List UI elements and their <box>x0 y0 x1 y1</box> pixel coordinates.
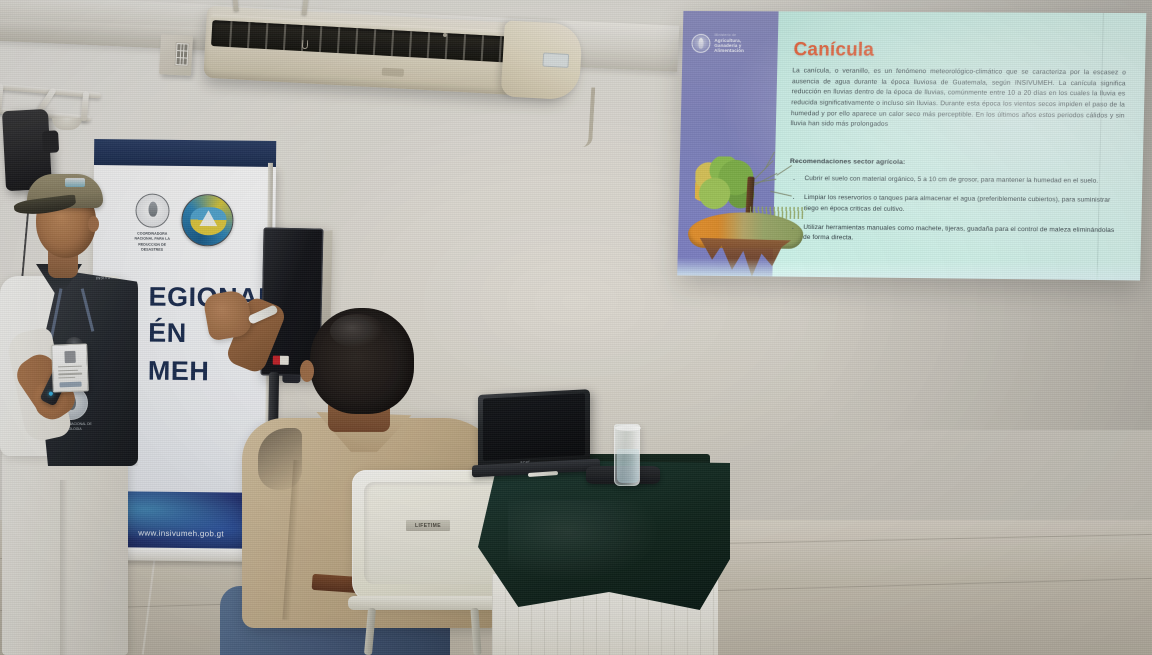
cloth-sheen <box>508 500 658 580</box>
presenter-ear <box>88 216 99 232</box>
projected-presentation-slide: Ministerio de Agricultura, Ganadería y A… <box>677 11 1146 281</box>
seated-ear <box>300 360 314 382</box>
laptop-lid: acer <box>478 389 590 469</box>
wall-nail <box>443 33 447 37</box>
ac-label-sticker <box>542 53 569 68</box>
vest-shoulder-text: INSIVUMEH <box>96 272 142 280</box>
wall-switch-keys[interactable] <box>174 42 189 67</box>
presenter-id-badge <box>51 343 89 392</box>
seated-hair-highlight <box>330 314 384 348</box>
slide-title: Canícula <box>793 39 874 61</box>
glass-rim <box>615 425 641 431</box>
ministry-logo-line2: Agricultura, Ganadería y Alimentación <box>714 38 744 54</box>
laptop-screen[interactable] <box>483 393 585 460</box>
list-item: Limpiar los reservorios o tanques para a… <box>802 193 1121 216</box>
presenter-trousers <box>2 440 128 655</box>
slide-subheading: Recomendaciones sector agrícola: <box>790 158 906 166</box>
ministry-logo: Ministerio de Agricultura, Ganadería y A… <box>691 34 744 53</box>
glass-water <box>617 449 639 483</box>
list-item: Cubrir el suelo con material orgánico, 5… <box>802 174 1121 187</box>
badge-photo <box>64 351 75 363</box>
cap-logo-icon <box>65 178 85 187</box>
stylus-pen[interactable] <box>528 471 558 477</box>
wall-hook <box>302 40 309 49</box>
list-item: Utilizar herramientas manuales como mach… <box>801 223 1120 247</box>
wall-switch-plate[interactable] <box>159 34 193 76</box>
badge-footer-band <box>59 382 81 388</box>
ac-drain-pipe <box>566 86 595 147</box>
ac-drain-outlet <box>382 68 404 77</box>
chair-leg-left <box>364 608 376 655</box>
drinking-glass[interactable] <box>614 424 640 486</box>
standing-presenter: INSIVUMEH INSTITUTO NACIONAL DE SISMOLOG… <box>0 158 224 655</box>
ministry-seal-icon <box>691 34 710 53</box>
photo-scene: Ministerio de Agricultura, Ganadería y A… <box>0 0 1152 655</box>
slide-surface: Ministerio de Agricultura, Ganadería y A… <box>677 11 1146 281</box>
slide-paragraph: La canícula, o veranillo, es un fenómeno… <box>790 66 1126 132</box>
slide-bullet-list: Cubrir el suelo con material orgánico, 5… <box>789 174 1121 256</box>
laptop-computer[interactable]: acer <box>478 392 598 484</box>
chair-brand-label: LIFETIME <box>406 520 450 531</box>
